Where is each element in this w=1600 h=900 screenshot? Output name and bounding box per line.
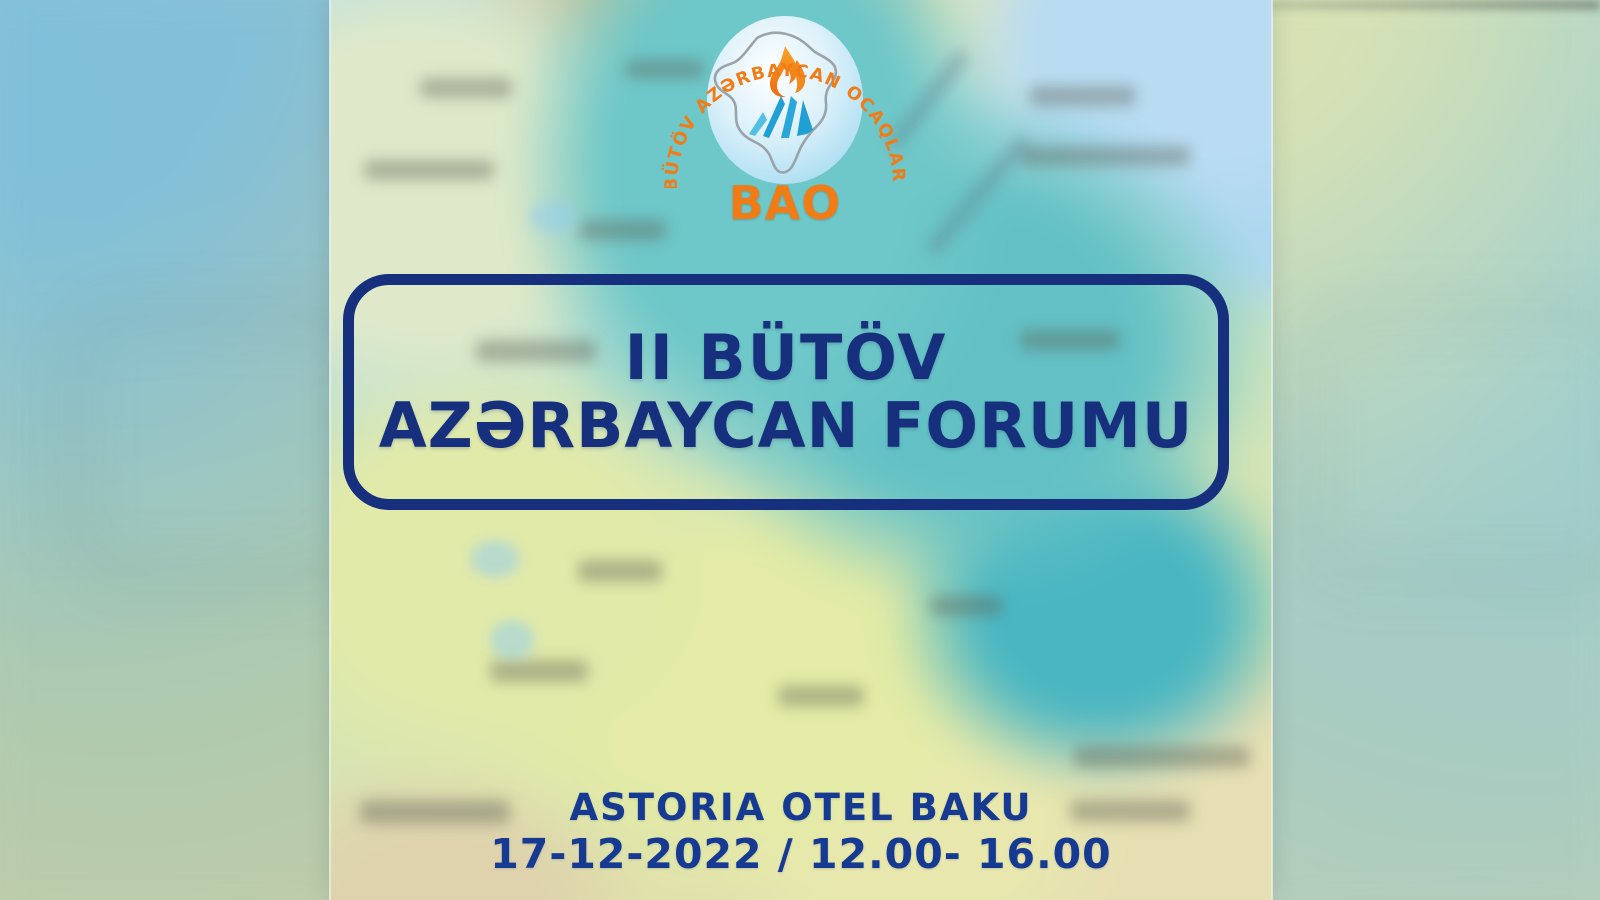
logo-disc-icon (707, 16, 863, 184)
map-label-smudge (1030, 86, 1136, 106)
poster-stage: BÜTÖV AZƏRBAYCAN OCAQLARI BAO II BÜTÖV A… (0, 0, 1600, 900)
map-label-smudge (420, 78, 512, 98)
backdrop-ghost-frame-right (1290, 300, 1600, 590)
venue-text: ASTORIA OTEL BAKU (330, 786, 1272, 830)
logo-emblem: BÜTÖV AZƏRBAYCAN OCAQLARI (645, 8, 925, 188)
map-label-smudge (1074, 746, 1250, 768)
map-label-smudge (930, 596, 1002, 616)
map-label-smudge (1020, 146, 1190, 166)
datetime-text: 17-12-2022 / 12.00- 16.00 (330, 830, 1272, 878)
poster-left-seam (329, 0, 331, 900)
map-label-smudge (578, 560, 662, 582)
map-lake (490, 620, 534, 660)
map-label-smudge (778, 686, 864, 706)
bao-logo: BÜTÖV AZƏRBAYCAN OCAQLARI BAO (645, 8, 925, 238)
logo-acronym: BAO (645, 176, 925, 230)
poster-right-seam (1271, 0, 1273, 900)
map-lake (470, 540, 520, 578)
map-label-smudge (490, 660, 588, 682)
event-details: ASTORIA OTEL BAKU 17-12-2022 / 12.00- 16… (330, 786, 1272, 878)
headline-frame (343, 274, 1229, 510)
map-lake (530, 200, 576, 234)
map-label-smudge (364, 160, 494, 180)
